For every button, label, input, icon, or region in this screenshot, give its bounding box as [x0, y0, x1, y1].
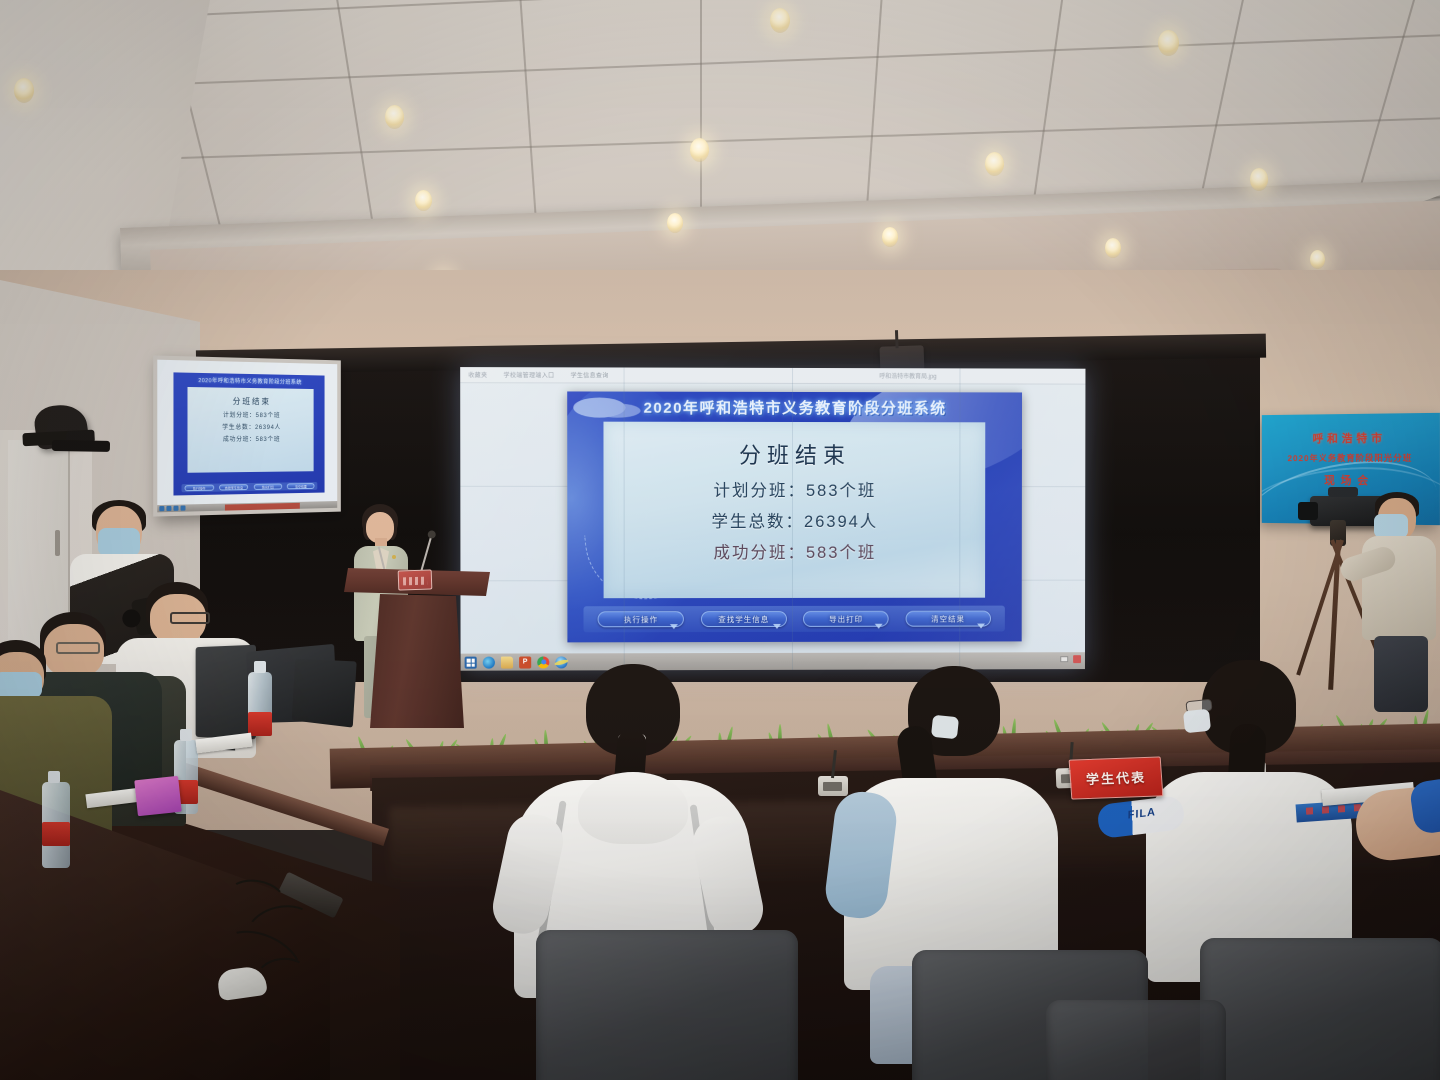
left-tv-line-3: 成功分班：583个班 [187, 434, 313, 443]
left-tv-line-1: 计划分班：583个班 [187, 409, 313, 419]
result-line-total-students: 学生总数：26394人 [604, 508, 986, 532]
videographer-face-mask [98, 528, 140, 556]
left-tv-screen: 2020年呼和浩特市义务教育阶段分班系统 分班结束 计划分班：583个班 学生总… [157, 360, 337, 513]
ceiling-grid-h-0 [0, 0, 1440, 34]
attendee-3-face-mask [0, 672, 42, 698]
ceiling-light-8 [667, 213, 683, 233]
student-left-hood [578, 772, 688, 844]
operator-face-mask [1374, 514, 1408, 538]
podium [344, 568, 490, 728]
left-tv-button-find-student[interactable]: 查找学生信息 [219, 484, 248, 491]
left-tv-line-2: 学生总数：26394人 [187, 422, 313, 431]
led-banner-line-2: 2020年义务教育阶段阳光分班 [1262, 452, 1440, 464]
browser-bar-item-3[interactable]: 学生信息查询 [571, 370, 609, 379]
browser-bar-item-1[interactable]: 收藏夹 [468, 370, 487, 379]
floor-cables [226, 880, 346, 1030]
led-banner-line-3: 现场会 [1262, 472, 1440, 488]
chair-right[interactable] [1200, 938, 1440, 1080]
screen-seam-v1 [624, 367, 625, 670]
ceiling-light-5 [985, 152, 1004, 176]
left-tv-button-execute[interactable]: 执行操作 [184, 485, 214, 492]
projection-screen: 收藏夹 学校端管理端入口 学生信息查询 呼和浩特市教育局.jpg 2020年呼和… [460, 367, 1085, 671]
app-content-panel: 分班结束 计划分班：583个班 学生总数：26394人 成功分班：583个班 [603, 422, 985, 599]
result-line-planned: 计划分班：583个班 [604, 477, 986, 501]
ceiling-light-9 [882, 227, 898, 247]
ceiling-light-3 [385, 105, 404, 129]
browser-bar-item-2[interactable]: 学校端管理端入口 [504, 370, 555, 379]
chair-extra[interactable] [1046, 1000, 1226, 1080]
led-banner-line-1: 呼和浩特市 [1262, 429, 1440, 446]
left-tv-button-export-print[interactable]: 导出打印 [254, 483, 282, 489]
left-wall-tv: 2020年呼和浩特市义务教育阶段分班系统 分班结束 计划分班：583个班 学生总… [153, 355, 341, 516]
podium-red-plaque [398, 569, 433, 590]
close-icon[interactable] [1073, 655, 1081, 663]
presenter-badge-pin [392, 555, 396, 559]
left-tv-button-bar: 执行操作 查找学生信息 导出打印 清空结果 [182, 482, 318, 492]
ceiling-light-4 [690, 138, 709, 162]
browser-toolbar: 收藏夹 学校端管理端入口 学生信息查询 呼和浩特市教育局.jpg [460, 367, 1085, 385]
screen-seam-v2 [792, 368, 793, 670]
app-button-bar: 执行操作 查找学生信息 导出打印 清空结果 [583, 606, 1004, 633]
student-rep-placard-text: 学生代表 [1070, 766, 1161, 788]
fenban-system-window: 2020年呼和浩特市义务教育阶段分班系统 分班结束 计划分班：583个班 学生总… [567, 391, 1022, 642]
left-tv-app-title: 2020年呼和浩特市义务教育阶段分班系统 [173, 375, 324, 386]
student-rep-placard: 学生代表 [1069, 756, 1164, 799]
left-tv-button-clear[interactable]: 清空结果 [287, 483, 315, 489]
ceiling-light-1 [1158, 30, 1179, 56]
left-tv-red-strip [225, 503, 300, 511]
chair-left[interactable] [536, 930, 798, 1080]
export-print-button[interactable]: 导出打印 [803, 611, 889, 627]
ceiling-light-6 [1250, 168, 1268, 191]
camera-operator [1348, 492, 1440, 712]
water-bottle-2[interactable] [248, 672, 272, 734]
left-tv-panel: 分班结束 计划分班：583个班 学生总数：26394人 成功分班：583个班 [187, 387, 313, 473]
conference-room-photo: 2020年呼和浩特市义务教育阶段分班系统 分班结束 计划分班：583个班 学生总… [0, 0, 1440, 1080]
podium-body [370, 594, 464, 728]
brand-text: FILA [1128, 806, 1156, 822]
minimize-icon[interactable] [1060, 656, 1068, 662]
ceiling-light-10 [1105, 238, 1121, 258]
pink-card[interactable] [134, 776, 182, 816]
execute-operation-button[interactable]: 执行操作 [598, 611, 684, 627]
find-student-info-button[interactable]: 查找学生信息 [701, 611, 787, 627]
app-title: 2020年呼和浩特市义务教育阶段分班系统 [567, 396, 1022, 418]
laptop-2[interactable] [292, 659, 357, 728]
ceiling-light-11 [1310, 250, 1325, 269]
student-right-face-mask [1183, 709, 1211, 734]
left-tv-heading: 分班结束 [187, 395, 313, 407]
attendee-1-glasses [170, 612, 210, 624]
result-heading: 分班结束 [603, 438, 985, 470]
student-center-face-mask [931, 715, 959, 740]
result-line-successful: 成功分班：583个班 [604, 539, 986, 563]
taskbar-window-controls [1060, 655, 1081, 663]
ceiling-grid-h-2 [0, 111, 1440, 171]
water-bottle-3[interactable] [42, 782, 70, 868]
operator-trousers [1374, 636, 1428, 712]
clear-results-button[interactable]: 清空结果 [905, 611, 990, 627]
left-tv-app-window: 2020年呼和浩特市义务教育阶段分班系统 分班结束 计划分班：583个班 学生总… [173, 372, 324, 495]
ceiling-light-2 [14, 78, 34, 103]
ceiling-light-0 [770, 8, 790, 33]
browser-bar-right-label: 呼和浩特市教育局.jpg [879, 371, 936, 380]
